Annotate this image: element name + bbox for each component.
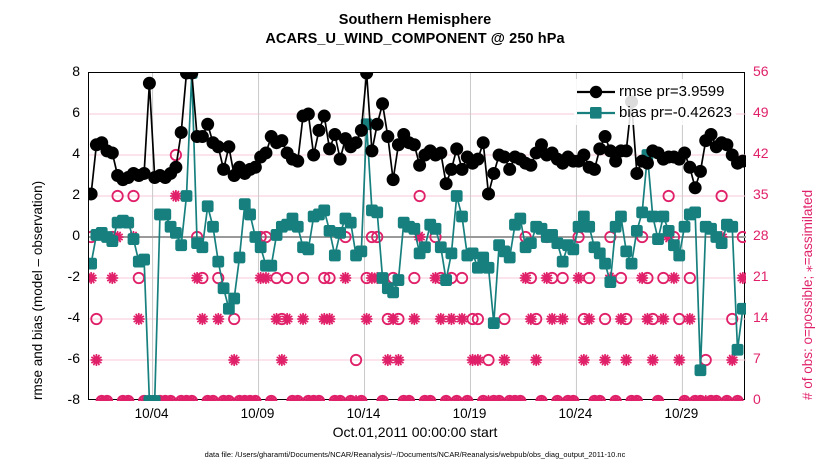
rmse-data-point	[350, 137, 362, 149]
y-right-tick-42: 42	[753, 145, 793, 161]
bias-data-point	[335, 228, 346, 239]
bias-data-point	[181, 191, 192, 202]
obs-assimilated-marker	[107, 273, 117, 283]
rmse-data-point	[620, 145, 632, 157]
obs-assimilated-marker	[361, 314, 371, 324]
bias-data-point	[239, 199, 250, 210]
obs-assimilated-marker	[91, 355, 101, 365]
bias-data-point	[420, 242, 431, 253]
bias-data-point	[451, 191, 462, 202]
bias-data-point	[727, 221, 738, 232]
x-tick-10-24: 10/24	[535, 406, 615, 421]
bias-data-point	[213, 256, 224, 267]
obs-assimilated-marker	[547, 314, 557, 324]
obs-assimilated-marker	[499, 355, 509, 365]
y-right-tick-21: 21	[753, 268, 793, 284]
chart-legend[interactable]: rmse pr=3.9599bias pr=-0.42623	[574, 79, 736, 125]
bias-data-point	[637, 207, 648, 218]
bias-data-point	[695, 365, 706, 376]
rmse-data-point	[599, 131, 611, 143]
rmse-data-point	[631, 167, 643, 179]
bias-data-point	[578, 211, 589, 222]
bias-data-point	[223, 303, 234, 314]
y-left-tick-2: 2	[44, 186, 80, 202]
bias-data-point	[600, 258, 611, 269]
obs-assimilated-marker	[727, 355, 737, 365]
obs-assimilated-marker	[282, 314, 292, 324]
rmse-data-point	[594, 143, 606, 155]
bias-data-point	[457, 211, 468, 222]
rmse-data-point	[705, 129, 717, 141]
obs-assimilated-marker	[446, 314, 456, 324]
bias-data-point	[149, 396, 160, 401]
y-axis-right-label: # of obs: o=possible; ⁎=assimilated	[800, 190, 816, 400]
bias-data-point	[430, 223, 441, 234]
bias-data-point	[292, 221, 303, 232]
obs-assimilated-marker	[298, 314, 308, 324]
y-left-tick--6: -6	[44, 350, 80, 366]
bias-data-point	[160, 209, 171, 220]
y-right-tick-14: 14	[753, 309, 793, 325]
rmse-data-point	[477, 137, 489, 149]
rmse-data-point	[451, 143, 463, 155]
y-left-tick-8: 8	[44, 63, 80, 79]
legend-marker-circle-icon	[576, 83, 616, 101]
bias-data-point	[303, 244, 314, 255]
obs-assimilated-marker	[621, 355, 631, 365]
bias-data-point	[170, 228, 181, 239]
bias-data-point	[441, 275, 452, 286]
obs-assimilated-marker	[573, 273, 583, 283]
bias-data-point	[229, 293, 240, 304]
rmse-data-point	[504, 163, 516, 175]
rmse-data-point	[170, 161, 182, 173]
rmse-data-point	[387, 174, 399, 186]
obs-assimilated-marker	[171, 191, 181, 201]
chart-page: Southern Hemisphere ACARS_U_WIND_COMPONE…	[0, 0, 830, 470]
y-right-tick-56: 56	[753, 63, 793, 79]
bias-data-point	[647, 211, 658, 222]
rmse-data-point	[472, 153, 484, 165]
legend-item-rmse[interactable]: rmse pr=3.9599	[576, 81, 732, 102]
obs-assimilated-marker	[669, 273, 679, 283]
bias-data-point	[107, 236, 118, 247]
bias-data-point	[446, 248, 457, 259]
bias-data-point	[504, 252, 515, 263]
rmse-data-point	[302, 108, 314, 120]
bias-data-point	[716, 238, 727, 249]
rmse-data-point	[223, 141, 235, 153]
obs-assimilated-marker	[531, 355, 541, 365]
y-right-tick-49: 49	[753, 104, 793, 120]
bias-data-point	[663, 225, 674, 236]
obs-assimilated-marker	[584, 314, 594, 324]
bias-data-point	[345, 217, 356, 228]
rmse-data-point	[525, 159, 537, 171]
rmse-data-point	[482, 188, 494, 200]
rmse-data-point	[435, 147, 447, 159]
y-right-tick-7: 7	[753, 350, 793, 366]
bias-data-point	[483, 262, 494, 273]
bias-data-point	[669, 240, 680, 251]
obs-assimilated-marker	[89, 273, 96, 283]
bias-data-point	[737, 303, 746, 314]
bias-data-point	[218, 283, 229, 294]
bias-data-point	[377, 273, 388, 284]
rmse-data-point	[408, 139, 420, 151]
bias-data-point	[573, 221, 584, 232]
bias-data-point	[372, 207, 383, 218]
x-tick-10-09: 10/09	[218, 406, 298, 421]
bias-data-point	[266, 260, 277, 271]
rmse-data-point	[89, 188, 97, 200]
rmse-data-point	[143, 77, 155, 89]
x-tick-10-29: 10/29	[641, 406, 721, 421]
bias-data-point	[393, 275, 404, 286]
bias-data-point	[488, 318, 499, 329]
bias-data-point	[605, 277, 616, 288]
obs-assimilated-marker	[340, 273, 350, 283]
bias-data-point	[208, 221, 219, 232]
bias-data-point	[255, 242, 266, 253]
rmse-data-point	[694, 165, 706, 177]
legend-label: bias pr=-0.42623	[619, 104, 732, 121]
bias-data-point	[525, 238, 536, 249]
y-left-tick-0: 0	[44, 227, 80, 243]
rmse-data-point	[202, 118, 214, 130]
bias-data-point	[139, 254, 150, 265]
bias-data-point	[356, 246, 367, 257]
bias-data-point	[245, 209, 256, 220]
bias-data-point	[250, 232, 261, 243]
bias-data-point	[653, 234, 664, 245]
bias-data-point	[234, 252, 245, 263]
y-axis-left-label: rmse and bias (model – observation)	[30, 181, 45, 400]
y-left-tick--4: -4	[44, 309, 80, 325]
bias-data-point	[631, 225, 642, 236]
bias-data-point	[388, 287, 399, 298]
bias-data-point	[616, 211, 627, 222]
bias-data-point	[176, 240, 187, 251]
bias-data-point	[478, 252, 489, 263]
y-left-tick-4: 4	[44, 145, 80, 161]
rmse-data-point	[361, 73, 373, 79]
rmse-data-point	[440, 178, 452, 190]
x-tick-10-14: 10/14	[324, 406, 404, 421]
obs-assimilated-marker	[213, 314, 223, 324]
bias-data-point	[626, 258, 637, 269]
obs-assimilated-marker	[685, 314, 695, 324]
x-tick-10-19: 10/19	[429, 406, 509, 421]
obs-assimilated-marker	[134, 314, 144, 324]
bias-data-point	[658, 211, 669, 222]
rmse-data-point	[588, 163, 600, 175]
bias-data-point	[197, 242, 208, 253]
bias-data-point	[584, 221, 595, 232]
obs-assimilated-marker	[277, 355, 287, 365]
bias-data-point	[435, 242, 446, 253]
bias-data-point	[202, 201, 213, 212]
rmse-data-point	[689, 182, 701, 194]
obs-assimilated-marker	[557, 314, 567, 324]
rmse-data-point	[377, 98, 389, 110]
bias-data-point	[467, 248, 478, 259]
bias-data-point	[552, 238, 563, 249]
obs-assimilated-marker	[409, 314, 419, 324]
rmse-data-point	[737, 155, 746, 167]
bias-data-point	[319, 205, 330, 216]
rmse-data-point	[218, 163, 230, 175]
y-left-tick--2: -2	[44, 268, 80, 284]
x-tick-10-04: 10/04	[112, 406, 192, 421]
bias-data-point	[679, 221, 690, 232]
rmse-data-point	[318, 110, 330, 122]
obs-assimilated-marker	[197, 314, 207, 324]
rmse-data-point	[324, 143, 336, 155]
chart-title-primary: Southern Hemisphere	[0, 12, 830, 28]
legend-label: rmse pr=3.9599	[619, 83, 724, 100]
obs-assimilated-marker	[579, 355, 589, 365]
y-left-tick-6: 6	[44, 104, 80, 120]
chart-title-secondary: ACARS_U_WIND_COMPONENT @ 250 hPa	[0, 31, 830, 47]
y-right-tick-0: 0	[753, 391, 793, 407]
bias-data-point	[610, 221, 621, 232]
rmse-data-point	[679, 147, 691, 159]
obs-assimilated-marker	[648, 355, 658, 365]
bias-data-point	[732, 344, 743, 355]
bias-data-point	[324, 225, 335, 236]
obs-assimilated-marker	[600, 355, 610, 365]
bias-data-point	[123, 217, 134, 228]
obs-assimilated-marker	[229, 355, 239, 365]
obs-assimilated-marker	[383, 355, 393, 365]
legend-item-bias[interactable]: bias pr=-0.42623	[576, 102, 732, 123]
rmse-data-point	[355, 124, 367, 136]
obs-assimilated-marker	[738, 273, 746, 283]
rmse-data-point	[175, 126, 187, 138]
y-left-tick--8: -8	[44, 391, 80, 407]
plot-area[interactable]: rmse pr=3.9599bias pr=-0.42623	[88, 72, 745, 400]
rmse-data-point	[641, 157, 653, 169]
legend-marker-square-icon	[576, 104, 616, 122]
bias-data-point	[557, 256, 568, 267]
bias-data-point	[409, 223, 420, 234]
bias-data-point	[674, 250, 685, 261]
x-axis-label: Oct.01,2011 00:00:00 start	[0, 424, 830, 440]
bias-data-point	[473, 262, 484, 273]
rmse-data-point	[308, 149, 320, 161]
rmse-data-point	[382, 131, 394, 143]
rmse-data-point	[371, 118, 383, 130]
rmse-data-point	[313, 124, 325, 136]
obs-assimilated-marker	[658, 314, 668, 324]
rmse-data-point	[260, 147, 272, 159]
obs-assimilated-marker	[436, 314, 446, 324]
bias-data-point	[568, 244, 579, 255]
y-right-tick-35: 35	[753, 186, 793, 202]
obs-assimilated-marker	[393, 355, 403, 365]
bias-data-point	[329, 250, 340, 261]
bias-data-point	[690, 207, 701, 218]
rmse-data-point	[292, 155, 304, 167]
rmse-data-point	[578, 149, 590, 161]
bias-data-point	[621, 246, 632, 257]
bias-data-point	[515, 213, 526, 224]
rmse-data-point	[488, 167, 500, 179]
rmse-data-point	[106, 147, 118, 159]
data-file-footer: data file: /Users/gharamti/Documents/NCA…	[0, 450, 830, 459]
y-right-tick-28: 28	[753, 227, 793, 243]
bias-data-point	[128, 234, 139, 245]
obs-assimilated-marker	[457, 314, 467, 324]
rmse-data-point	[334, 153, 346, 165]
rmse-data-point	[196, 131, 208, 143]
bias-data-point	[594, 248, 605, 259]
rmse-data-point	[456, 163, 468, 175]
rmse-data-point	[366, 145, 378, 157]
bias-data-point	[89, 258, 97, 269]
rmse-data-point	[276, 135, 288, 147]
